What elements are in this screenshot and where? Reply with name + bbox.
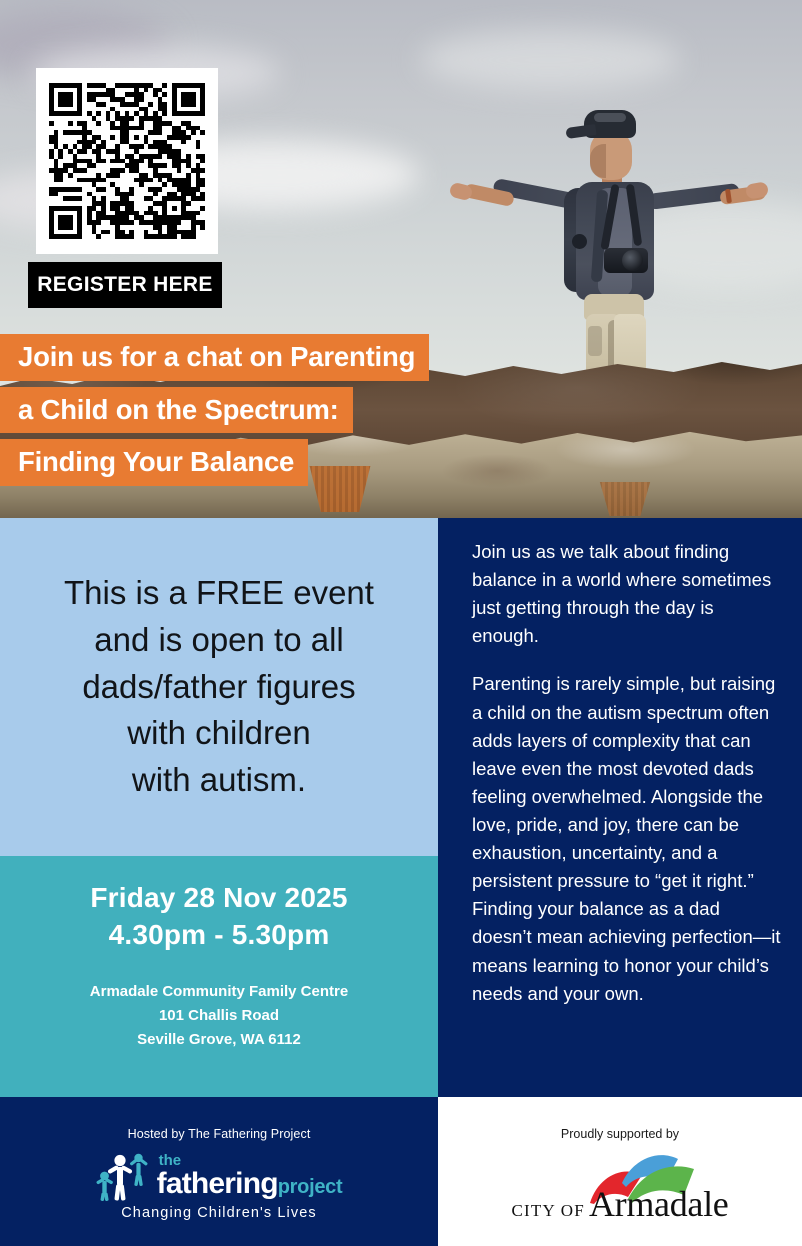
fathering-project-logo: the fatheringproject bbox=[0, 1151, 438, 1201]
cloud-decor bbox=[420, 30, 680, 90]
free-event-line-5: with autism. bbox=[64, 757, 374, 804]
register-here-button[interactable]: REGISTER HERE bbox=[28, 262, 222, 308]
qr-code-icon[interactable] bbox=[36, 68, 218, 254]
event-date: Friday 28 Nov 2025 bbox=[0, 880, 438, 917]
register-block[interactable]: REGISTER HERE bbox=[36, 68, 222, 308]
free-event-line-1: This is a FREE event bbox=[64, 570, 374, 617]
event-poster: Join us for a chat on Parenting a Child … bbox=[0, 0, 802, 1246]
logo-word-fathering: fathering bbox=[157, 1167, 278, 1200]
free-event-line-3: dads/father figures bbox=[64, 664, 374, 711]
description-paragraph-2: Parenting is rarely simple, but raising … bbox=[472, 670, 782, 1007]
title-line-1: Join us for a chat on Parenting bbox=[0, 334, 429, 381]
city-of-label: CITY OF bbox=[512, 1201, 585, 1220]
free-event-line-4: with children bbox=[64, 710, 374, 757]
title-line-2: a Child on the Spectrum: bbox=[0, 387, 353, 434]
family-figures-icon bbox=[96, 1151, 150, 1201]
supported-by-label: Proudly supported by bbox=[438, 1097, 802, 1141]
logo-tagline: Changing Children's Lives bbox=[0, 1205, 438, 1221]
event-time: 4.30pm - 5.30pm bbox=[0, 917, 438, 954]
description-panel: Join us as we talk about finding balance… bbox=[438, 518, 802, 1097]
free-event-line-2: and is open to all bbox=[64, 617, 374, 664]
venue-suburb: Seville Grove, WA 6112 bbox=[0, 1028, 438, 1052]
description-paragraph-1: Join us as we talk about finding balance… bbox=[472, 538, 782, 650]
venue-street: 101 Challis Road bbox=[0, 1004, 438, 1028]
city-of-armadale-logo: CITY OF Armadale bbox=[470, 1147, 770, 1229]
logo-word-the: the bbox=[159, 1153, 343, 1168]
venue-name: Armadale Community Family Centre bbox=[0, 980, 438, 1004]
title-line-3: Finding Your Balance bbox=[0, 439, 308, 486]
host-footer: Hosted by The Fathering Project bbox=[0, 1097, 438, 1246]
event-details-panel: Friday 28 Nov 2025 4.30pm - 5.30pm Armad… bbox=[0, 856, 438, 1097]
free-event-panel: This is a FREE event and is open to all … bbox=[0, 518, 438, 856]
title-banner-group: Join us for a chat on Parenting a Child … bbox=[0, 334, 802, 486]
armadale-label: Armadale bbox=[589, 1184, 729, 1224]
hosted-by-label: Hosted by The Fathering Project bbox=[0, 1097, 438, 1141]
supporter-footer: Proudly supported by CITY OF Armadale bbox=[438, 1097, 802, 1246]
logo-word-project: project bbox=[278, 1176, 343, 1198]
